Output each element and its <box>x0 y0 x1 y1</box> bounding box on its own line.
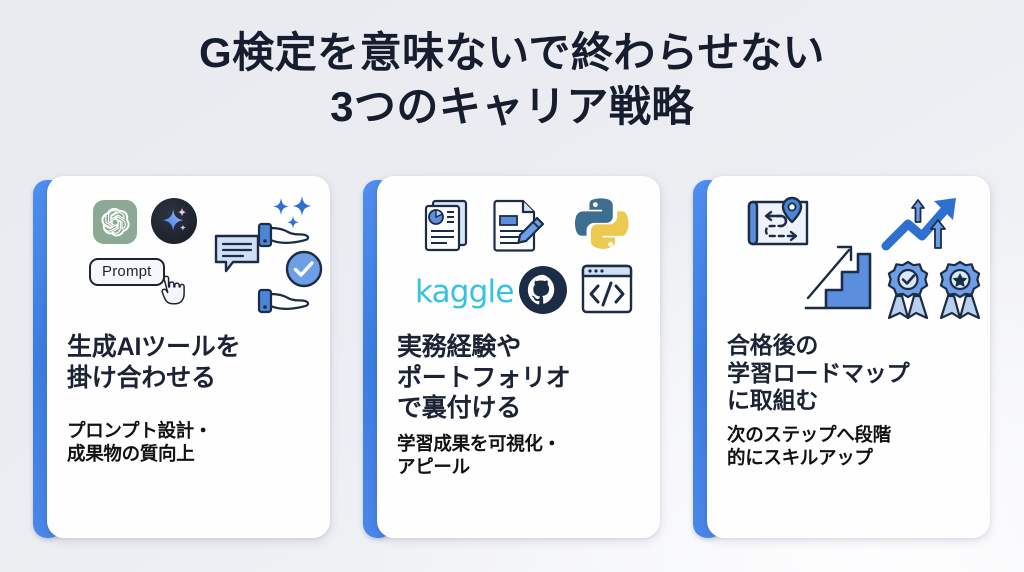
card-2-body: kaggle <box>377 176 660 538</box>
card-1-title: 生成AIツールを 掛け合わせる <box>67 332 312 393</box>
card-2-spacer <box>397 478 642 528</box>
card-2-gap <box>397 424 642 432</box>
card-1-icon-area: Prompt <box>67 192 312 332</box>
document-pencil-icon <box>493 198 545 254</box>
card-3-title: 合格後の 学習ロードマップ に取組む <box>727 332 972 415</box>
title-line-2: 3つのキャリア戦略 <box>0 80 1024 134</box>
check-circle-icon <box>284 249 324 289</box>
card-3-spacer <box>727 470 972 528</box>
card-1-subtitle: プロンプト設計・ 成果物の質向上 <box>67 419 312 466</box>
award-check-icon <box>881 260 935 322</box>
card-2[interactable]: kaggle <box>363 176 660 542</box>
prompt-pill-icon[interactable]: Prompt <box>89 258 165 286</box>
cursor-pointer-icon <box>156 276 184 306</box>
python-logo-icon <box>573 196 631 254</box>
code-window-icon <box>581 264 633 314</box>
card-1-body: Prompt <box>47 176 330 538</box>
card-3-icon-area <box>727 192 972 332</box>
kaggle-logo-icon: kaggle <box>415 274 514 310</box>
card-2-title: 実務経験や ポートフォリオ で裏付ける <box>397 332 642 424</box>
card-3-subtitle: 次のステップへ段階 的にスキルアップ <box>727 423 972 470</box>
card-2-icon-area: kaggle <box>397 192 642 332</box>
award-star-icon <box>933 260 987 322</box>
hand-check-icon <box>257 284 319 320</box>
growth-arrow-icon <box>882 194 970 256</box>
stairs-arrow-icon <box>802 240 874 312</box>
github-logo-icon <box>519 266 567 314</box>
hand-sparkles-icon <box>257 194 319 252</box>
slide-root: G検定を意味ないで終わらせない 3つのキャリア戦略 <box>0 0 1024 572</box>
card-1[interactable]: Prompt <box>33 176 330 542</box>
report-chart-icon <box>423 198 471 254</box>
prompt-pill-label: Prompt <box>89 258 165 286</box>
kaggle-logo-text: kaggle <box>415 274 514 310</box>
speech-bubble-icon <box>213 232 261 276</box>
title-line-1: G検定を意味ないで終わらせない <box>0 26 1024 80</box>
gemini-sparkle-icon <box>151 198 197 244</box>
card-1-spacer <box>67 466 312 528</box>
card-3-body: 合格後の 学習ロードマップ に取組む 次のステップへ段階 的にスキルアップ <box>707 176 990 538</box>
card-grid: Prompt <box>33 176 991 542</box>
card-3[interactable]: 合格後の 学習ロードマップ に取組む 次のステップへ段階 的にスキルアップ <box>693 176 990 542</box>
card-2-subtitle: 学習成果を可視化・ アピール <box>397 432 642 479</box>
openai-logo-icon <box>93 200 137 244</box>
slide-title: G検定を意味ないで終わらせない 3つのキャリア戦略 <box>0 26 1024 134</box>
card-3-gap <box>727 415 972 423</box>
card-1-gap <box>67 393 312 419</box>
